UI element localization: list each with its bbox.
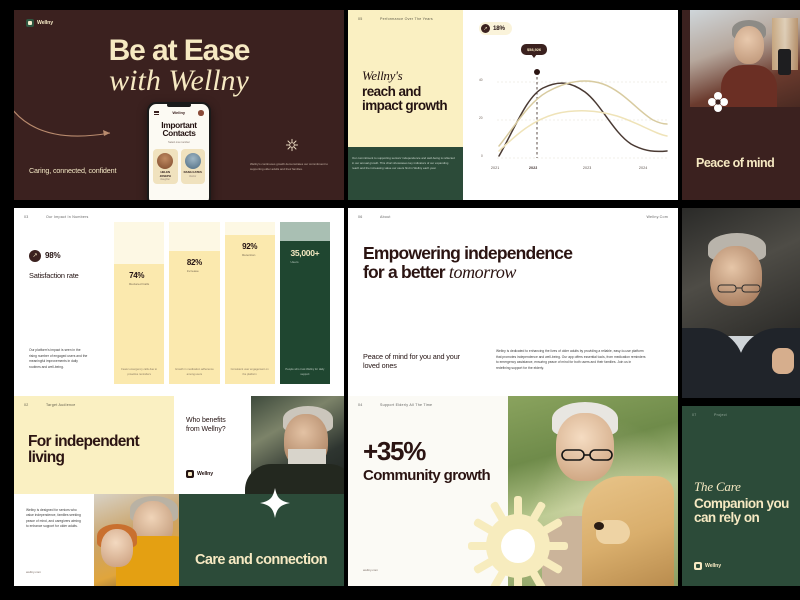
wellny-wordmark: Wellny [197,471,213,477]
slide9-header-num: 07 [692,413,702,417]
line-chart[interactable]: ↗ 18% $58,926 40 20 0 2021 2022 2023 202… [463,10,678,200]
slide-independent-living[interactable]: 02 Target Audience For independent livin… [14,396,344,586]
slide7-question: Who benefits from Wellny? [186,416,239,435]
trend-up-icon: ↗ [29,250,41,262]
slide2-header-num: 05 [358,17,368,21]
contact-role: Doctor [183,176,204,178]
slide-care-companion[interactable]: 07 Project The Care Companion you can re… [682,406,800,586]
slide-reach-impact-growth[interactable]: 05 Performance over the years Wellny's r… [348,10,678,200]
contact-card[interactable]: DANA GATES Doctor [181,149,206,184]
slide-empowering-independence[interactable]: 06 About wellny.com Empowering independe… [348,208,678,398]
slide8-big-stat: +35% [363,436,425,467]
bar-value: 35,000+ [290,248,319,258]
slide9-title-bold: Companion you can rely on [694,497,800,525]
slide8-website: wellny.com [363,568,378,572]
slide9-title-italic: The Care [694,479,741,494]
badge-value: 98% [45,251,60,260]
slide-community-growth[interactable]: 04 Support elderly all the time +35% Com… [348,396,678,586]
slide9-header-title: Project [714,413,727,417]
curved-arrow-icon [14,105,120,139]
slide7-body: Wellny is designed for seniors who value… [26,508,82,530]
slide2-body-panel: Our commitment to supporting seniors' in… [348,147,463,200]
slide2-left-panel: 05 Performance over the years Wellny's r… [348,10,463,200]
slide2-title: Wellny's reach and impact growth [362,68,458,113]
bar-chart[interactable]: 74% Reduced Calls Fewer emergency calls … [114,222,330,384]
slide1-title: Be at Ease with Wellny [14,36,344,96]
bar-column[interactable]: 74% Reduced Calls Fewer emergency calls … [114,222,164,384]
asterisk-icon [285,138,299,152]
grandmother-child-photo [94,494,179,586]
slide7-header-num: 02 [24,403,34,407]
bar-caption: Increase [187,269,202,273]
bar-footnote: People who trust Wellny for daily suppor… [284,368,326,377]
slide4-title: Empowering independence for a better tom… [363,244,573,282]
sunburst-icon [468,496,568,586]
x-tick-2023: 2023 [583,166,592,170]
slide3-stat-block: ↗ 98% Satisfaction rate [29,244,79,281]
y-tick-0: 0 [481,154,483,158]
star-icon [260,488,290,518]
slide4-header: 06 About wellny.com [348,208,678,226]
slide9-header: 07 Project [682,406,800,424]
slide7-title: For independent living [28,434,168,466]
phone-mockup: Wellny Important Contacts Select one mem… [147,102,211,200]
contact-photo [157,153,173,169]
slide8-header-title: Support elderly all the time [380,403,432,407]
slide7-question-panel: Who benefits from Wellny? Wellny [174,396,251,494]
bar-value: 82% [187,258,202,267]
slide7-header-title: Target Audience [46,403,76,407]
wellny-logo: Wellny [694,562,721,570]
slide-impact-numbers[interactable]: 03 Our impact in numbers ↗ 98% Satisfact… [14,208,344,398]
slide4-header-title: About [380,215,391,219]
bar-footnote: Growth in medication adherence among use… [173,368,215,377]
glasses-icon [561,449,613,461]
slide1-header: Wellny [14,10,344,36]
wellny-logo-mark [694,562,702,570]
slide1-title-line1: Be at Ease [109,34,250,67]
slide9-title: The Care Companion you can rely on [694,474,800,525]
y-tick-20: 20 [479,116,483,120]
line-chart-svg [463,10,678,200]
photo-hand [772,348,794,374]
slide2-title-italic: Wellny's [362,68,458,84]
contact-card[interactable]: HELEN JOSEPH Daughter [153,149,178,184]
bar-footnote: Consistent user engagement on the platfo… [229,368,271,377]
bar-caption: Users [290,260,319,264]
slide2-title-bold: reach and impact growth [362,85,458,113]
x-tick-2022: 2022 [529,166,538,170]
slide8-header-num: 04 [358,403,368,407]
slide1-tagline: Caring, connected, confident [29,166,116,176]
slide2-header-title: Performance over the years [380,17,433,21]
slide3-note: Our platform's impact is seen in the ris… [29,348,89,370]
slide-senior-man-photo[interactable] [682,208,800,398]
y-tick-40: 40 [479,78,483,82]
contact-card-list: HELEN JOSEPH Daughter DANA GATES Doctor [149,144,209,184]
slide4-header-num: 06 [358,215,368,219]
wellny-logo-mark [186,470,194,478]
glasses-icon [717,284,761,293]
slide1-title-line2: with Wellny [14,66,344,95]
wellny-logo: Wellny [186,470,213,478]
x-tick-2024: 2024 [639,166,648,170]
slide7-body-panel: Wellny is designed for seniors who value… [14,494,94,586]
bar-column[interactable]: 35,000+ Users People who trust Wellny fo… [280,222,330,384]
x-tick-2021: 2021 [491,166,500,170]
slide3-header-num: 03 [24,215,34,219]
contact-name: HELEN JOSEPH [155,171,176,178]
slide7-website: wellny.com [26,570,41,574]
phone-heading: Important Contacts [149,121,209,139]
slide2-body: Our commitment to supporting seniors' in… [352,156,455,171]
slide2-header: 05 Performance over the years [348,10,463,28]
slide5-title: Peace of mind [696,157,774,170]
contact-name: DANA GATES [183,171,204,174]
slide4-body: Wellny is dedicated to enhancing the liv… [496,349,646,371]
bar-footnote: Fewer emergency calls due to proactive r… [118,368,160,377]
bar-caption: Reduced Calls [129,282,149,286]
bar-value: 92% [242,242,257,251]
wellny-wordmark: Wellny [37,20,53,26]
slide4-website: wellny.com [646,215,668,219]
slide4-title-italic: tomorrow [449,262,516,282]
bar-value: 74% [129,271,149,280]
phone-wordmark: Wellny [172,110,185,115]
stat-label: Satisfaction rate [29,271,79,281]
slide8-subtitle: Community growth [363,468,493,484]
bar-column[interactable]: 92% Retention Consistent user engagement… [225,222,275,384]
satisfaction-badge: ↗ 98% [29,250,60,262]
contact-photo [185,153,201,169]
wellny-wordmark: Wellny [705,563,721,569]
photo-face [710,246,762,306]
senior-woman-photo [690,10,800,107]
slide3-header-title: Our impact in numbers [46,215,89,219]
slide-peace-of-mind[interactable]: Peace of mind [682,10,800,200]
slide7-green-title: Care and connection [195,553,327,568]
avatar[interactable] [198,110,204,116]
wellny-logo: Wellny [26,19,53,27]
flower-icon [708,92,728,112]
slide1-note: Wellny's continuous growth demonstrates … [250,162,330,172]
contact-role: Daughter [155,179,176,181]
slide-deck-board: Wellny Be at Ease with Wellny Wellny Imp… [0,0,800,600]
wellny-logo-mark [26,19,34,27]
bar-column[interactable]: 82% Increase Growth in medication adhere… [169,222,219,384]
slide7-header: 02 Target Audience [14,396,174,414]
menu-icon[interactable] [154,111,159,115]
slide4-lead: Peace of mind for you and your loved one… [363,352,473,371]
slide8-header: 04 Support elderly all the time [348,396,508,414]
slide-title-be-at-ease[interactable]: Wellny Be at Ease with Wellny Wellny Imp… [14,10,344,200]
slide7-yellow-panel: 02 Target Audience For independent livin… [14,396,174,494]
bar-caption: Retention [242,253,257,257]
